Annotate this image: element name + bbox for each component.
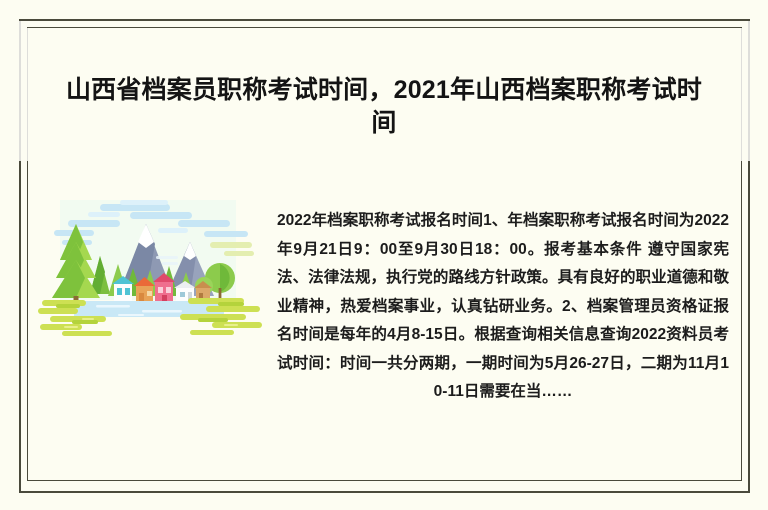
article-title: 山西省档案员职称考试时间，2021年山西档案职称考试时间 [58, 74, 710, 140]
article-card: 山西省档案员职称考试时间，2021年山西档案职称考试时间 [0, 0, 768, 510]
outer-frame-left-fade [19, 21, 21, 161]
inner-frame-left-fade [27, 28, 28, 161]
outer-frame-right-fade [748, 21, 750, 161]
inner-frame-right-fade [741, 28, 742, 161]
landscape-illustration [38, 198, 266, 338]
article-body: 2022年档案职称考试报名时间1、年档案职称考试报名时间为2022年9月21日9… [277, 207, 729, 407]
